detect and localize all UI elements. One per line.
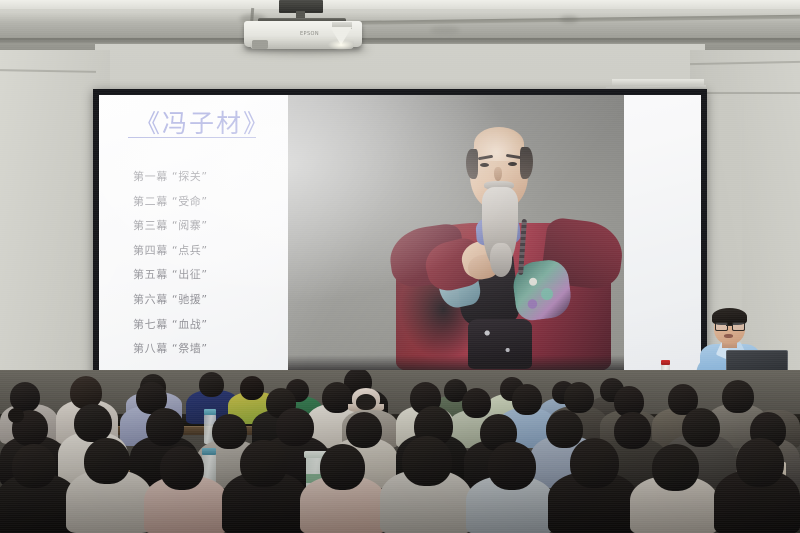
act-item: 第二幕 “受命” <box>133 193 261 209</box>
audience-member-head <box>462 388 491 418</box>
glasses-icon <box>714 322 745 329</box>
ceiling-edge-strip <box>0 0 800 9</box>
audience-member-head <box>146 408 184 446</box>
audience-member-head <box>212 414 247 449</box>
audience-member-head <box>199 372 224 397</box>
audience-member-head <box>276 408 314 446</box>
act-item: 第六幕 “驰援” <box>133 291 261 307</box>
act-item: 第四幕 “点兵” <box>133 242 261 258</box>
audience-member-head <box>320 444 365 490</box>
projector-lens <box>252 40 268 49</box>
audience-member-head <box>512 384 542 415</box>
audience-member-head <box>402 436 452 486</box>
glasses-bridge <box>726 325 732 326</box>
audience-area <box>0 370 800 533</box>
audience-member-head <box>682 408 720 447</box>
act-item: 第五幕 “出征” <box>133 266 261 282</box>
downlight-glow <box>328 40 354 50</box>
audience-member-head <box>74 404 112 442</box>
water-bottle-cap <box>204 409 216 415</box>
cola-bottle-cap <box>661 360 670 365</box>
audience-member-head <box>722 380 754 413</box>
lecture-hall-photo: EPSON <box>0 0 800 533</box>
audience-member-head <box>240 440 287 487</box>
audience-member-head <box>736 438 784 487</box>
water-bottle-cap <box>202 448 216 455</box>
presenter-mouth <box>724 334 733 338</box>
slide-stage-photo <box>288 95 624 371</box>
audience-member-head <box>12 444 56 488</box>
glasses-lens-left <box>715 322 728 331</box>
audience-member-head <box>652 444 699 491</box>
audience-member-head <box>356 394 376 410</box>
photo-light-wash <box>288 95 624 371</box>
projection-screen: 《冯子材》 第一幕 “探关” 第二幕 “受命” 第三幕 “阅寨” 第四幕 “点兵… <box>99 95 701 407</box>
audience-member-head <box>160 446 204 490</box>
act-item: 第八幕 “祭墙” <box>133 340 261 356</box>
slide-act-list: 第一幕 “探关” 第二幕 “受命” 第三幕 “阅寨” 第四幕 “点兵” 第五幕 … <box>133 168 261 365</box>
audience-member-head <box>346 412 382 448</box>
audience-member-head <box>84 438 130 484</box>
ceiling-stain <box>560 16 578 23</box>
slide-title: 《冯子材》 <box>135 104 270 140</box>
ceiling-beam <box>0 38 800 43</box>
slide-title-underline <box>128 137 256 138</box>
act-item: 第三幕 “阅寨” <box>133 217 261 233</box>
act-item: 第七幕 “血战” <box>133 316 261 332</box>
projector-brand-label: EPSON <box>300 31 319 37</box>
audience-member-head <box>240 376 264 400</box>
audience-member-head <box>614 412 651 449</box>
audience-member-head <box>488 442 536 490</box>
audience-member-head <box>570 438 619 488</box>
act-item: 第一幕 “探关” <box>133 168 261 184</box>
audience-member-hair-bun <box>8 408 24 423</box>
ceiling-stain <box>430 26 460 34</box>
audience-member-head <box>564 382 594 413</box>
audience-member-head <box>546 410 583 448</box>
glasses-lens-right <box>732 322 745 331</box>
wall-joint-line <box>700 92 800 94</box>
photo-bottom-shadow <box>288 355 624 371</box>
